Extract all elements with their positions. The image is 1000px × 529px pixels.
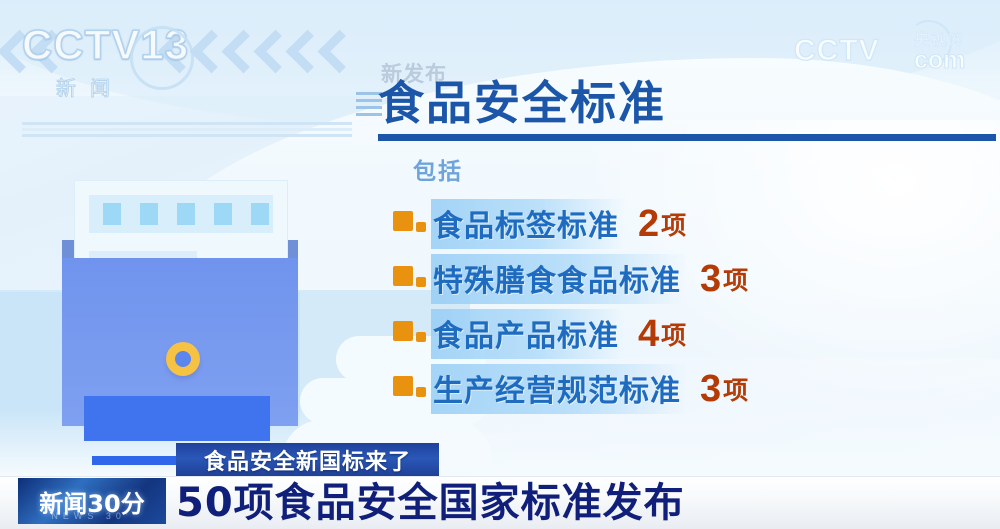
orange-square-bullet-icon: [393, 319, 431, 349]
cctv-logo-ring: [130, 26, 194, 90]
document-cell: [103, 203, 121, 225]
list-item-unit: 项: [723, 261, 748, 297]
list-item-label: 食品标签标准: [431, 199, 625, 249]
logo-underline-stripes: [22, 122, 352, 140]
standards-list: 食品标签标准 2 项 特殊膳食食品标准 3 项 食品产品标准 4 项 生产经营规…: [393, 196, 748, 416]
envelope-document-illustration: [62, 180, 302, 428]
list-item-label: 食品产品标准: [431, 309, 625, 359]
orange-square-bullet-icon: [393, 209, 431, 239]
list-item-unit: 项: [661, 316, 686, 352]
cctv-dot-com-watermark: CCTV 央视网 com: [794, 24, 984, 80]
watermark-cctv-text: CCTV: [794, 34, 880, 68]
chevron-left-icon: [320, 32, 346, 76]
list-item-label: 特殊膳食食品标准: [431, 254, 687, 304]
list-item: 食品产品标准 4 项: [393, 306, 748, 361]
watermark-com-text: com: [914, 46, 965, 75]
cctv-logo-wordmark: CCTV: [22, 21, 140, 68]
orange-square-bullet-icon: [393, 264, 431, 294]
orange-square-bullet-icon: [393, 374, 431, 404]
list-item-label: 生产经营规范标准: [431, 364, 687, 414]
chevron-left-icon: [256, 32, 282, 76]
list-item-unit: 项: [661, 206, 686, 242]
lower-third-tag-text: 食品安全新国标来了: [204, 444, 411, 476]
envelope-band: [84, 396, 270, 441]
list-item-count: 2: [638, 205, 659, 243]
title-underline-rule: [378, 134, 996, 141]
envelope-clasp-icon: [166, 342, 200, 376]
broadcast-screen: CCTV13 新闻 CCTV 央视网 com 新发布 食品安全标准 包括 食品标…: [0, 0, 1000, 529]
document-cell: [251, 203, 269, 225]
list-item: 特殊膳食食品标准 3 项: [393, 251, 748, 306]
list-item: 生产经营规范标准 3 项: [393, 361, 748, 416]
program-name-english: NEWS 30': [51, 511, 132, 521]
chevron-left-icon: [288, 32, 314, 76]
list-item-count: 3: [700, 370, 721, 408]
list-item-count: 4: [638, 315, 659, 353]
program-logo: 新闻30分 NEWS 30': [18, 478, 166, 524]
page-title: 食品安全标准: [378, 80, 666, 126]
list-item-count: 3: [700, 260, 721, 298]
lower-third-headline: 50项食品安全国家标准发布: [176, 481, 685, 525]
list-item-unit: 项: [723, 371, 748, 407]
includes-label: 包括: [413, 152, 463, 186]
lower-third-tag: 食品安全新国标来了: [176, 443, 439, 477]
document-cell: [214, 203, 232, 225]
list-item: 食品标签标准 2 项: [393, 196, 748, 251]
document-cell: [140, 203, 158, 225]
document-cell: [177, 203, 195, 225]
envelope-body: [62, 258, 298, 426]
cctv13-channel-logo: CCTV13 新闻: [22, 24, 252, 96]
